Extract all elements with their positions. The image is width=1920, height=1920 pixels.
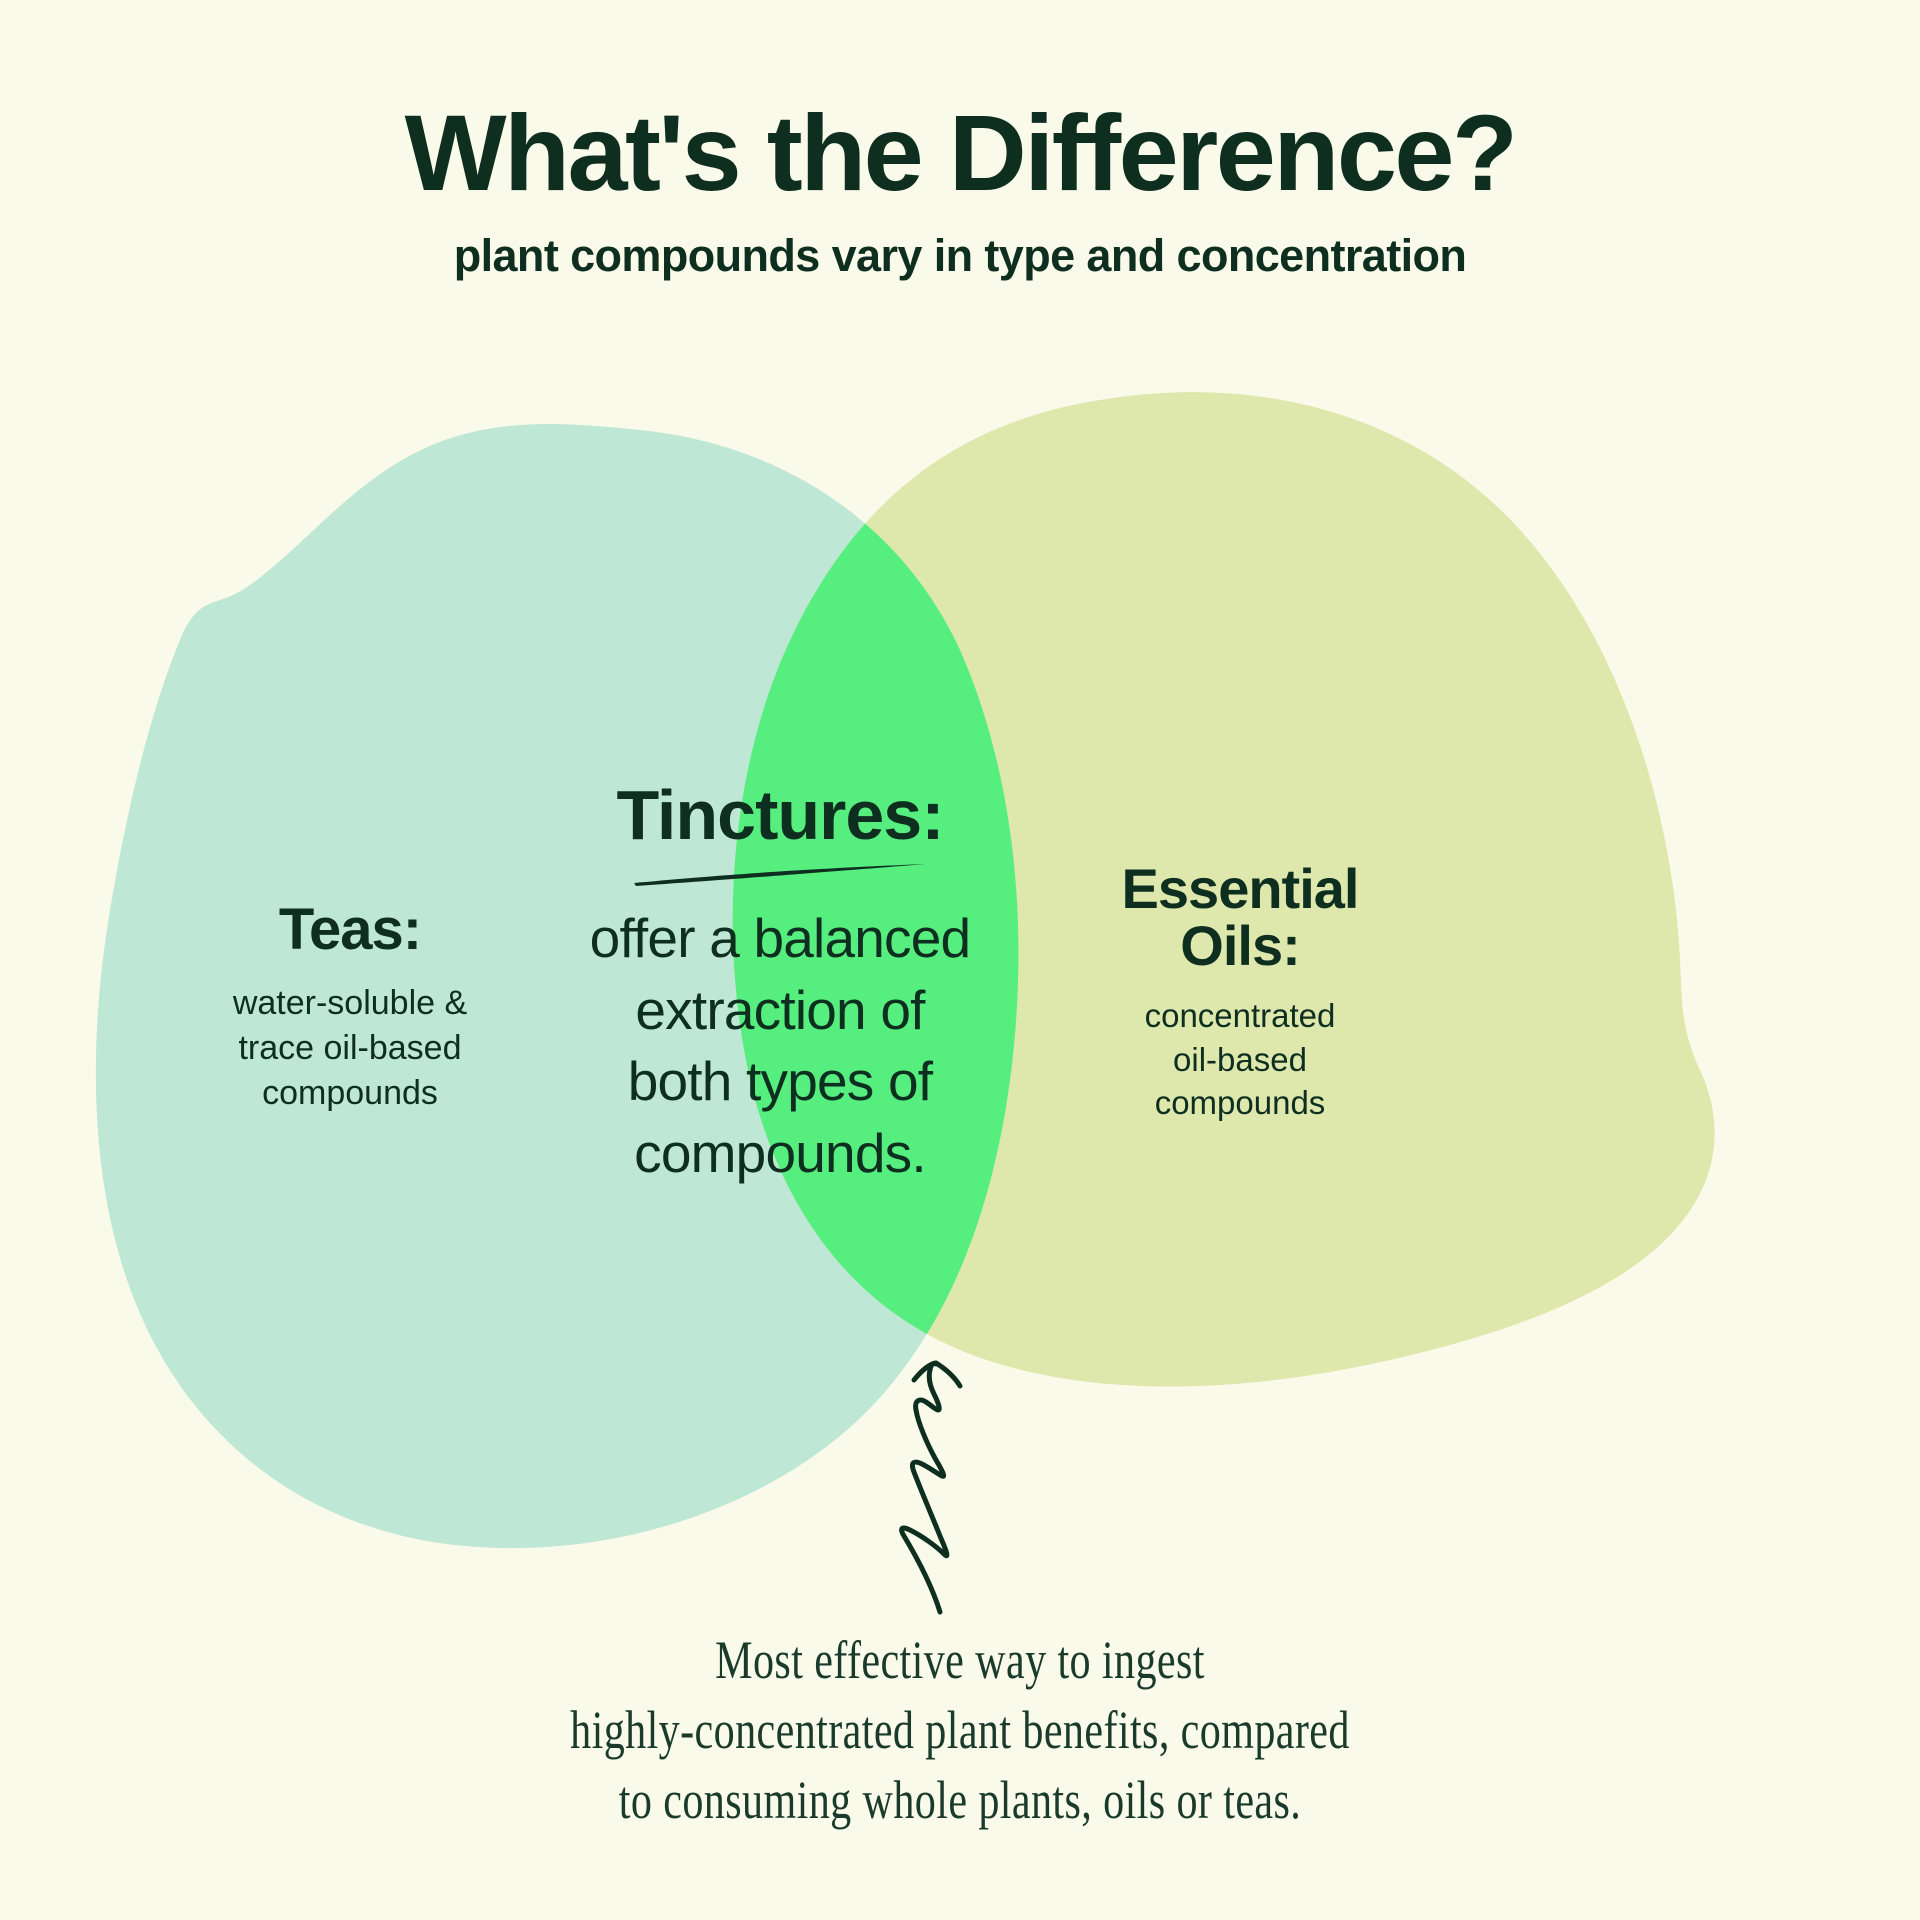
teas-body-line: trace oil-based	[130, 1026, 570, 1071]
teas-body-line: water-soluble &	[130, 981, 570, 1026]
teas-body: water-soluble & trace oil-based compound…	[130, 981, 570, 1116]
caption-line: Most effective way to ingest	[211, 1625, 1709, 1695]
teas-heading: Teas:	[130, 900, 570, 959]
tinctures-body: offer a balanced extraction of both type…	[520, 903, 1040, 1189]
essential-oils-body: concentrated oil-based compounds	[1055, 994, 1425, 1125]
teas-label-group: Teas: water-soluble & trace oil-based co…	[130, 900, 570, 1116]
essential-oils-heading: Essential Oils:	[1055, 860, 1425, 974]
tinctures-body-line: both types of	[520, 1046, 1040, 1118]
infographic-page: What's the Difference? plant compounds v…	[0, 0, 1920, 1920]
teas-body-line: compounds	[130, 1071, 570, 1116]
swash-underline-icon	[630, 861, 930, 887]
caption-line: highly-concentrated plant benefits, comp…	[211, 1695, 1709, 1765]
caption-line: to consuming whole plants, oils or teas.	[211, 1765, 1709, 1835]
caption: Most effective way to ingest highly-conc…	[211, 1625, 1709, 1836]
essential-oils-label-group: Essential Oils: concentrated oil-based c…	[1055, 860, 1425, 1125]
tinctures-body-line: offer a balanced	[520, 903, 1040, 975]
tinctures-body-line: extraction of	[520, 975, 1040, 1047]
squiggly-up-arrow-icon	[880, 1350, 1070, 1620]
essential-oils-body-line: oil-based	[1055, 1038, 1425, 1082]
essential-oils-heading-line: Essential	[1055, 860, 1425, 917]
tinctures-heading: Tinctures:	[520, 780, 1040, 851]
tinctures-label-group: Tinctures: offer a balanced extraction o…	[520, 780, 1040, 1189]
essential-oils-heading-line: Oils:	[1055, 917, 1425, 974]
essential-oils-body-line: concentrated	[1055, 994, 1425, 1038]
tinctures-body-line: compounds.	[520, 1118, 1040, 1190]
essential-oils-body-line: compounds	[1055, 1081, 1425, 1125]
